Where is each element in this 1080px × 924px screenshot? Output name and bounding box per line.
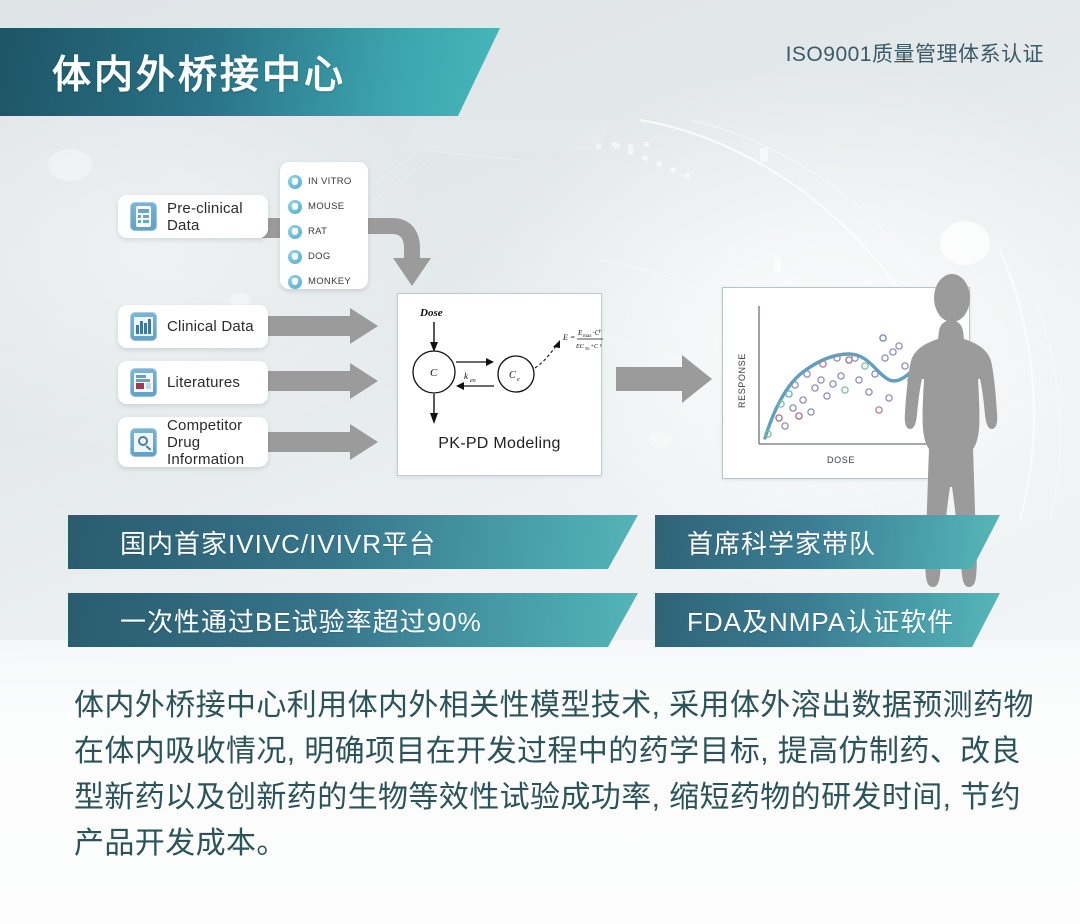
card-label-line2: Drug Information bbox=[167, 434, 256, 468]
monkey-icon bbox=[288, 275, 302, 289]
pkpd-model-panel: Dose C k eo C e bbox=[397, 293, 602, 476]
svg-text:max: max bbox=[583, 334, 592, 339]
tablet-data-icon bbox=[130, 202, 157, 231]
card-label: Literatures bbox=[167, 374, 240, 391]
svg-text:e: e bbox=[517, 377, 520, 383]
species-item-in-vitro: IN VITRO bbox=[288, 169, 362, 194]
iso-certification-label: ISO9001质量管理体系认证 bbox=[786, 38, 1044, 68]
species-item-rat: RAT bbox=[288, 219, 362, 244]
svg-text:+C: +C bbox=[590, 344, 599, 350]
mouse-icon bbox=[288, 200, 302, 214]
species-label: IN VITRO bbox=[308, 176, 352, 187]
magnifier-pill-icon bbox=[130, 428, 157, 457]
header-banner: 体内外桥接中心 bbox=[0, 28, 500, 116]
species-item-monkey: MONKEY bbox=[288, 269, 362, 294]
description-paragraph: 体内外桥接中心利用体内外相关性模型技术, 采用体外溶出数据预测药物在体内吸收情况… bbox=[74, 683, 1036, 867]
book-icon bbox=[130, 368, 157, 397]
feature-banner-2[interactable]: 首席科学家带队 bbox=[655, 515, 1000, 569]
feature-label: 国内首家IVIVC/IVIVR平台 bbox=[120, 524, 436, 561]
page-title: 体内外桥接中心 bbox=[52, 44, 346, 100]
svg-text:γ: γ bbox=[599, 329, 602, 334]
card-competitor-drug-information[interactable]: Competitor Drug Information bbox=[118, 417, 268, 467]
species-label: MOUSE bbox=[308, 201, 344, 212]
card-label-line1: Competitor bbox=[167, 417, 256, 434]
workflow-diagram: Pre-clinical Data Clinical Data Literatu… bbox=[0, 130, 1080, 520]
pkpd-caption: PK-PD Modeling bbox=[398, 435, 601, 453]
species-label: MONKEY bbox=[308, 276, 351, 287]
pkpd-schematic: Dose C k eo C e bbox=[398, 294, 603, 434]
svg-text:EC: EC bbox=[575, 344, 585, 350]
svg-text:eo: eo bbox=[470, 378, 476, 384]
species-item-dog: DOG bbox=[288, 244, 362, 269]
card-label: Clinical Data bbox=[167, 318, 254, 335]
feature-banner-3[interactable]: 一次性通过BE试验率超过90% bbox=[68, 593, 638, 647]
compartment-central-label: C bbox=[430, 367, 438, 379]
poster-canvas: 体内外桥接中心 ISO9001质量管理体系认证 bbox=[0, 0, 1080, 924]
chart-ylabel: RESPONSE bbox=[737, 353, 747, 408]
species-label: RAT bbox=[308, 226, 327, 237]
card-clinical-data[interactable]: Clinical Data bbox=[118, 305, 268, 348]
rate-constant-label: k bbox=[464, 371, 469, 381]
dose-label: Dose bbox=[419, 307, 443, 319]
flask-icon bbox=[288, 175, 302, 189]
svg-text:E =: E = bbox=[562, 333, 575, 342]
card-literatures[interactable]: Literatures bbox=[118, 361, 268, 404]
feature-banner-1[interactable]: 国内首家IVIVC/IVIVR平台 bbox=[68, 515, 638, 569]
rat-icon bbox=[288, 225, 302, 239]
feature-label: 首席科学家带队 bbox=[687, 524, 876, 561]
species-panel: IN VITRO MOUSE RAT DOG MONKEY bbox=[280, 162, 368, 289]
dog-icon bbox=[288, 250, 302, 264]
species-item-mouse: MOUSE bbox=[288, 194, 362, 219]
bar-chart-icon bbox=[130, 312, 157, 341]
species-label: DOG bbox=[308, 251, 331, 262]
card-pre-clinical-data[interactable]: Pre-clinical Data bbox=[118, 195, 268, 238]
feature-banner-4[interactable]: FDA及NMPA认证软件 bbox=[655, 593, 1000, 647]
svg-text:γ: γ bbox=[600, 342, 602, 347]
compartment-effect-label: C bbox=[509, 370, 516, 381]
card-label: Pre-clinical Data bbox=[167, 200, 256, 234]
chart-xlabel: DOSE bbox=[827, 455, 855, 465]
feature-label: FDA及NMPA认证软件 bbox=[687, 602, 954, 639]
feature-banners: 国内首家IVIVC/IVIVR平台 首席科学家带队 一次性通过BE试验率超过90… bbox=[0, 515, 1080, 650]
feature-label: 一次性通过BE试验率超过90% bbox=[120, 602, 482, 639]
